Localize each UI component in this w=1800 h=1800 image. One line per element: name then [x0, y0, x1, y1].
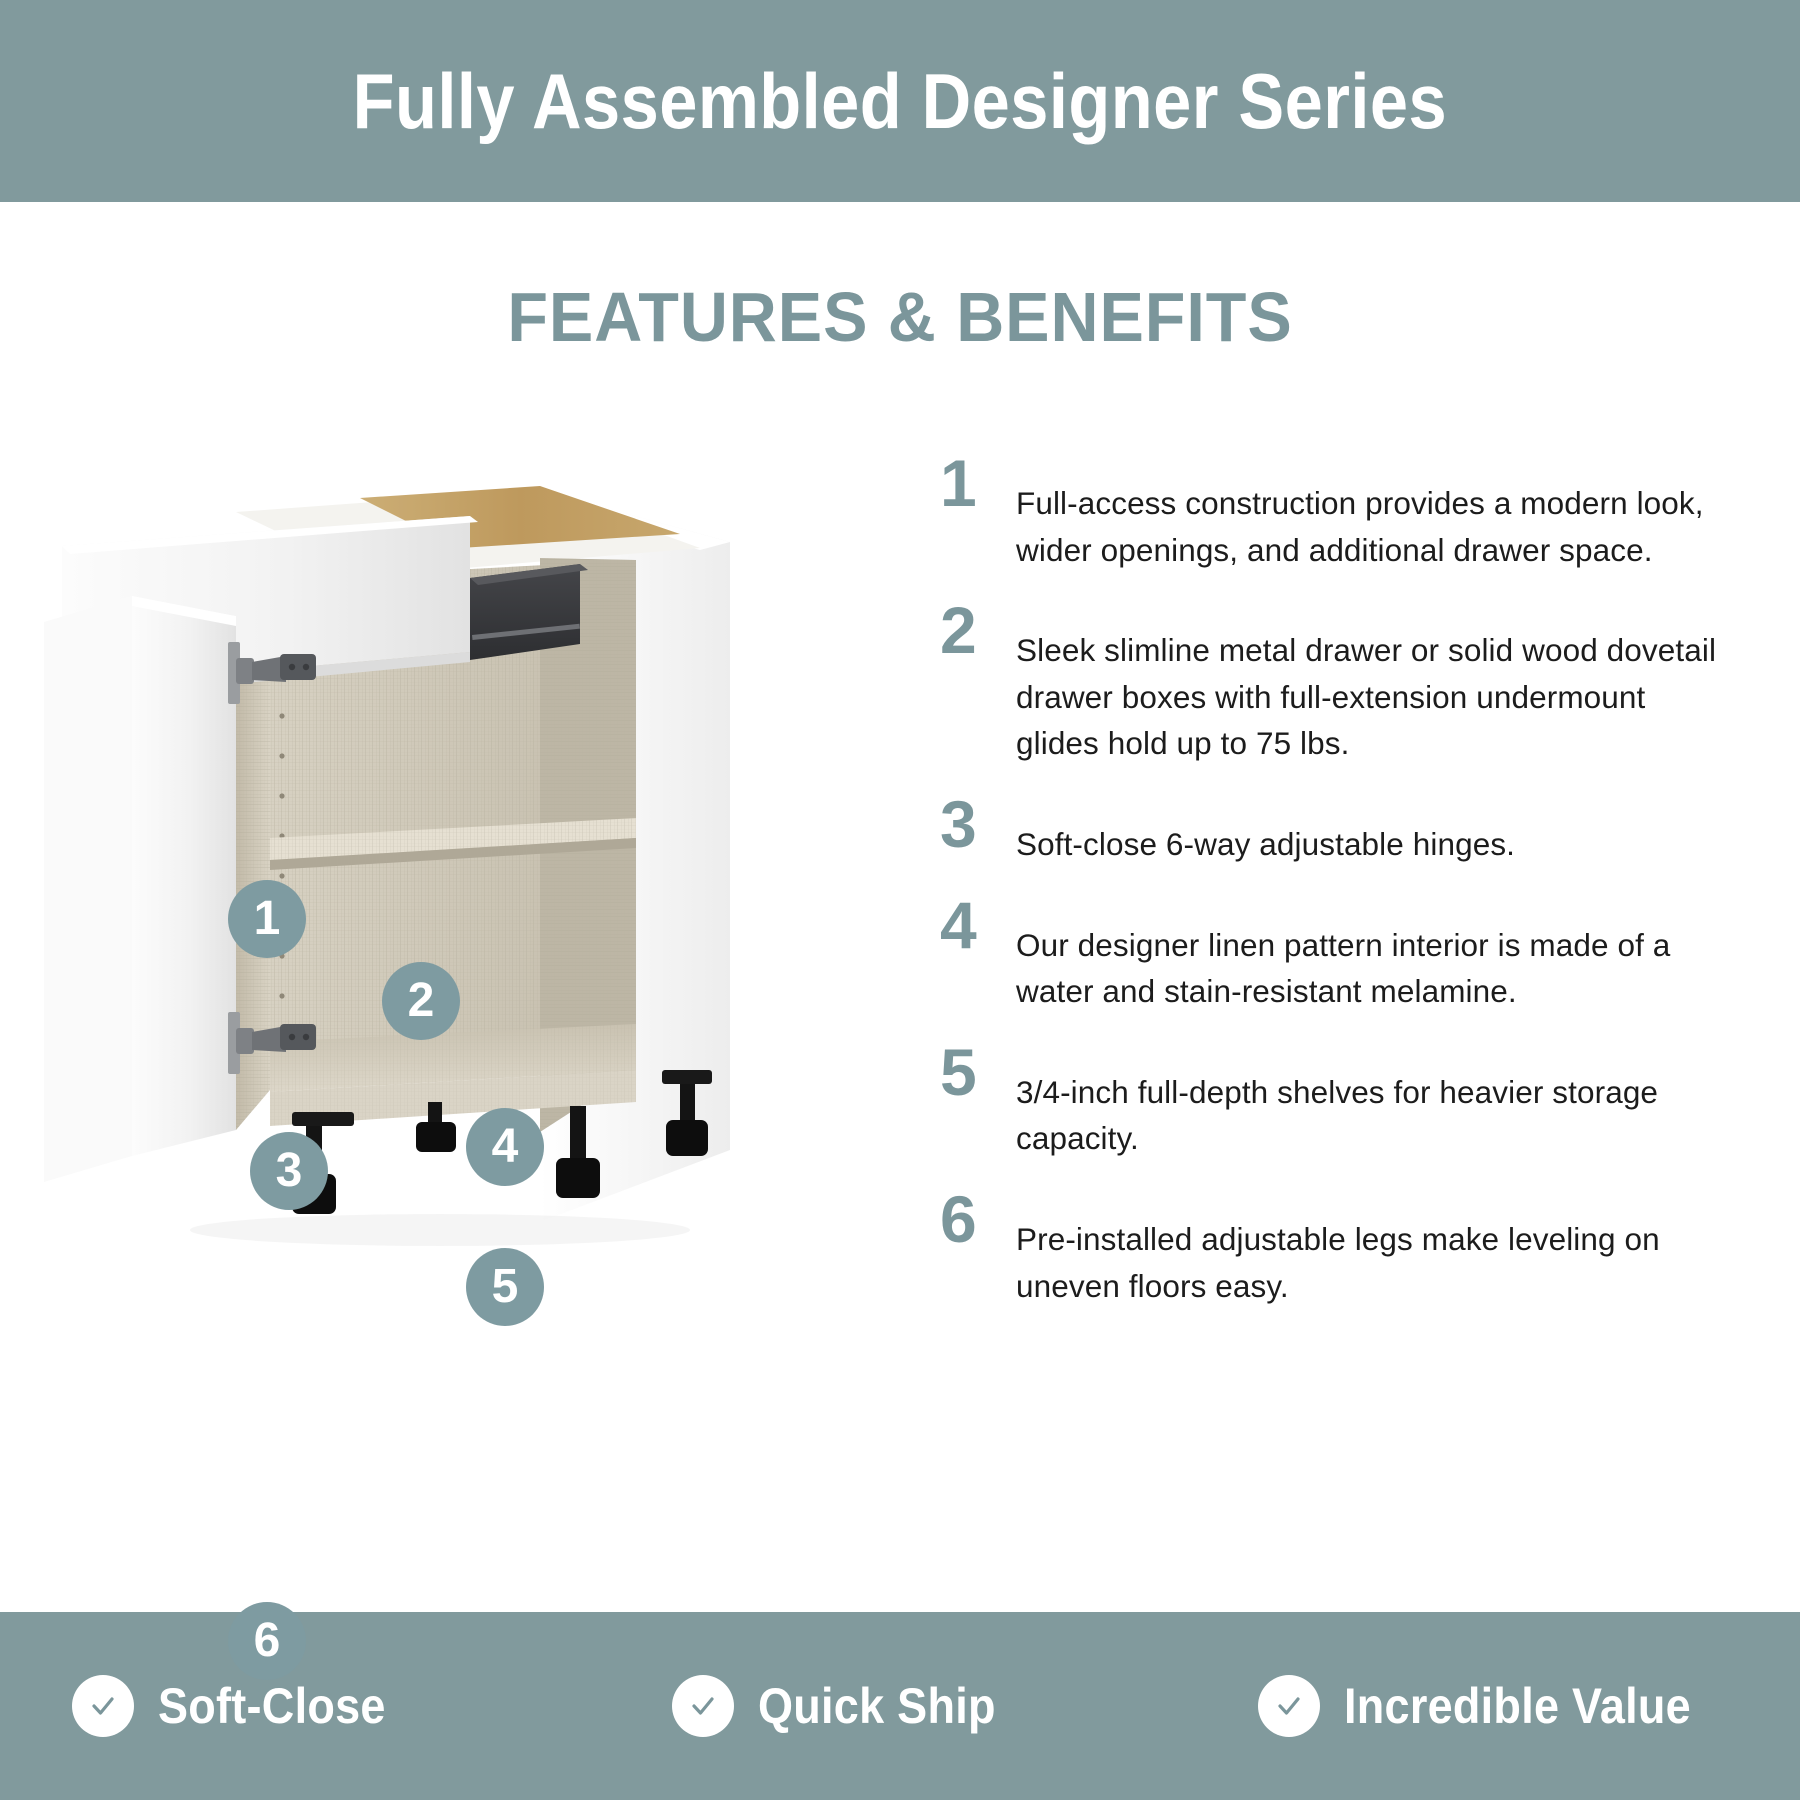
callout-badge-4: 4	[466, 1108, 544, 1186]
feature-text-3: Soft-close 6-way adjustable hinges.	[1016, 793, 1720, 868]
feature-item-2: 2 Sleek slimline metal drawer or solid w…	[940, 599, 1720, 767]
callout-badge-1: 1	[228, 880, 306, 958]
footer-label-incredible-value: Incredible Value	[1344, 1681, 1691, 1731]
footer-badge-incredible-value: Incredible Value	[1258, 1675, 1730, 1737]
feature-item-1: 1 Full-access construction provides a mo…	[940, 452, 1720, 573]
feature-number-3: 3	[940, 793, 1016, 856]
feature-text-4: Our designer linen pattern interior is m…	[1016, 894, 1720, 1015]
callout-badge-2: 2	[382, 962, 460, 1040]
footer-badge-quick-ship: Quick Ship	[672, 1675, 1022, 1737]
feature-item-3: 3 Soft-close 6-way adjustable hinges.	[940, 793, 1720, 868]
callout-badge-3: 3	[250, 1132, 328, 1210]
callout-badge-6: 6	[228, 1602, 306, 1680]
feature-number-4: 4	[940, 894, 1016, 957]
feature-text-6: Pre-installed adjustable legs make level…	[1016, 1188, 1720, 1309]
infographic-page: Fully Assembled Designer Series FEATURES…	[0, 0, 1800, 1800]
feature-list: 1 Full-access construction provides a mo…	[940, 452, 1720, 1335]
footer-label-quick-ship: Quick Ship	[758, 1681, 996, 1731]
feature-number-1: 1	[940, 452, 1016, 515]
feature-text-2: Sleek slimline metal drawer or solid woo…	[1016, 599, 1720, 767]
footer-label-soft-close: Soft-Close	[158, 1681, 386, 1731]
page-title: Fully Assembled Designer Series	[353, 62, 1448, 140]
footer-badge-soft-close: Soft-Close	[72, 1675, 411, 1737]
cabinet-door-outer-edge	[44, 596, 132, 1182]
feature-number-6: 6	[940, 1188, 1016, 1251]
feature-item-6: 6 Pre-installed adjustable legs make lev…	[940, 1188, 1720, 1309]
feature-text-5: 3/4-inch full-depth shelves for heavier …	[1016, 1041, 1720, 1162]
check-circle-icon	[672, 1675, 734, 1737]
feature-number-5: 5	[940, 1041, 1016, 1104]
product-image: 1 2 3 4 5 6	[40, 430, 800, 1310]
feature-number-2: 2	[940, 599, 1016, 662]
feature-item-4: 4 Our designer linen pattern interior is…	[940, 894, 1720, 1015]
section-heading: FEATURES & BENEFITS	[45, 282, 1755, 352]
feature-item-5: 5 3/4-inch full-depth shelves for heavie…	[940, 1041, 1720, 1162]
cabinet-illustration	[40, 430, 800, 1310]
callout-badge-5: 5	[466, 1248, 544, 1326]
ground-shadow	[190, 1214, 690, 1246]
cabinet-door	[132, 596, 236, 1156]
check-circle-icon	[72, 1675, 134, 1737]
feature-text-1: Full-access construction provides a mode…	[1016, 452, 1720, 573]
header-bar: Fully Assembled Designer Series	[0, 0, 1800, 202]
check-circle-icon	[1258, 1675, 1320, 1737]
